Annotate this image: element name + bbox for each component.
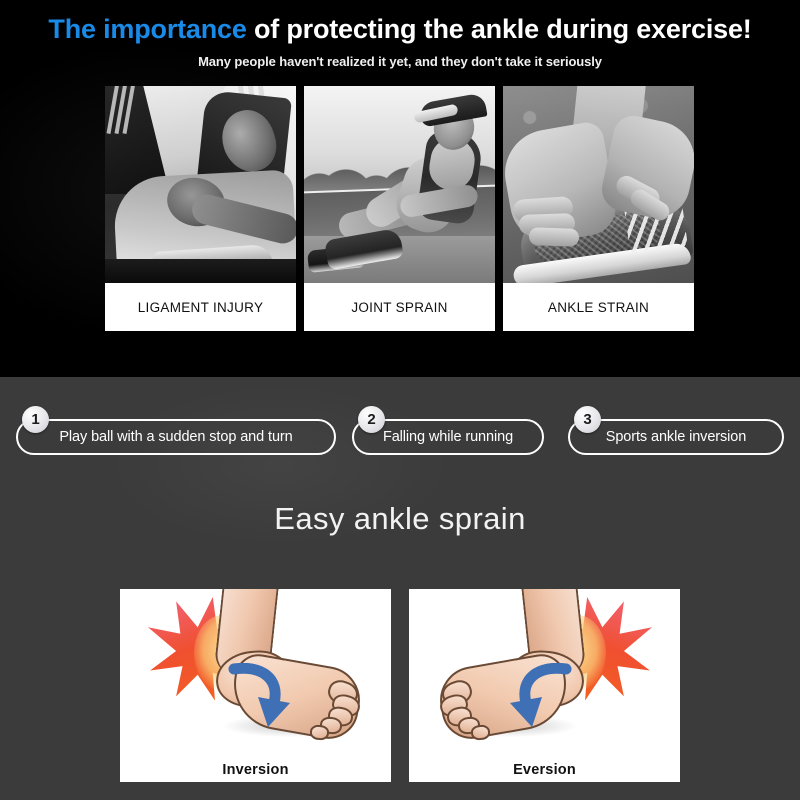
- reason-item-3[interactable]: 3 Sports ankle inversion: [568, 419, 784, 455]
- reason-item-2[interactable]: 2 Falling while running: [352, 419, 544, 455]
- reason-number-badge: 2: [358, 406, 385, 433]
- injury-photo-card[interactable]: ANKLE STRAIN: [503, 86, 694, 331]
- sprain-card-inversion[interactable]: Inversion: [120, 589, 391, 782]
- page-title-rest: of protecting the ankle during exercise!: [247, 14, 752, 44]
- injury-photo-card[interactable]: JOINT SPRAIN: [304, 86, 495, 331]
- sprain-card-row: Inversion: [120, 589, 680, 782]
- sprain-card-eversion[interactable]: Eversion: [409, 589, 680, 782]
- ankle-strain-photo: [503, 86, 694, 283]
- injury-photo-card[interactable]: LIGAMENT INJURY: [105, 86, 296, 331]
- page-title: The importance of protecting the ankle d…: [0, 14, 800, 45]
- toe: [309, 724, 329, 740]
- reason-label: Play ball with a sudden stop and turn: [59, 429, 292, 445]
- rotation-arrow-icon: [228, 663, 292, 731]
- sprain-card-label: Eversion: [409, 762, 680, 778]
- hero-section: The importance of protecting the ankle d…: [0, 0, 800, 377]
- rotation-arrow-icon: [508, 663, 572, 731]
- photo-caption: JOINT SPRAIN: [304, 283, 495, 331]
- page-root: The importance of protecting the ankle d…: [0, 0, 800, 800]
- reason-item-1[interactable]: 1 Play ball with a sudden stop and turn: [16, 419, 336, 455]
- sprain-section: 1 Play ball with a sudden stop and turn …: [0, 377, 800, 800]
- ligament-injury-photo: [105, 86, 296, 283]
- photo-caption: ANKLE STRAIN: [503, 283, 694, 331]
- inversion-illustration: [120, 589, 391, 741]
- reason-number-badge: 1: [22, 406, 49, 433]
- page-subtitle: Many people haven't realized it yet, and…: [0, 54, 800, 69]
- reason-label: Sports ankle inversion: [606, 429, 746, 445]
- photo-caption: LIGAMENT INJURY: [105, 283, 296, 331]
- sprain-card-label: Inversion: [120, 762, 391, 778]
- page-title-accent: The importance: [48, 14, 246, 44]
- eversion-illustration: [409, 589, 680, 741]
- reason-number-badge: 3: [574, 406, 601, 433]
- injury-photo-row: LIGAMENT INJURY: [105, 86, 695, 331]
- section-heading: Easy ankle sprain: [0, 501, 800, 537]
- toe: [470, 724, 490, 740]
- joint-sprain-photo: [304, 86, 495, 283]
- reason-label: Falling while running: [383, 429, 513, 445]
- reasons-list: 1 Play ball with a sudden stop and turn …: [0, 399, 800, 471]
